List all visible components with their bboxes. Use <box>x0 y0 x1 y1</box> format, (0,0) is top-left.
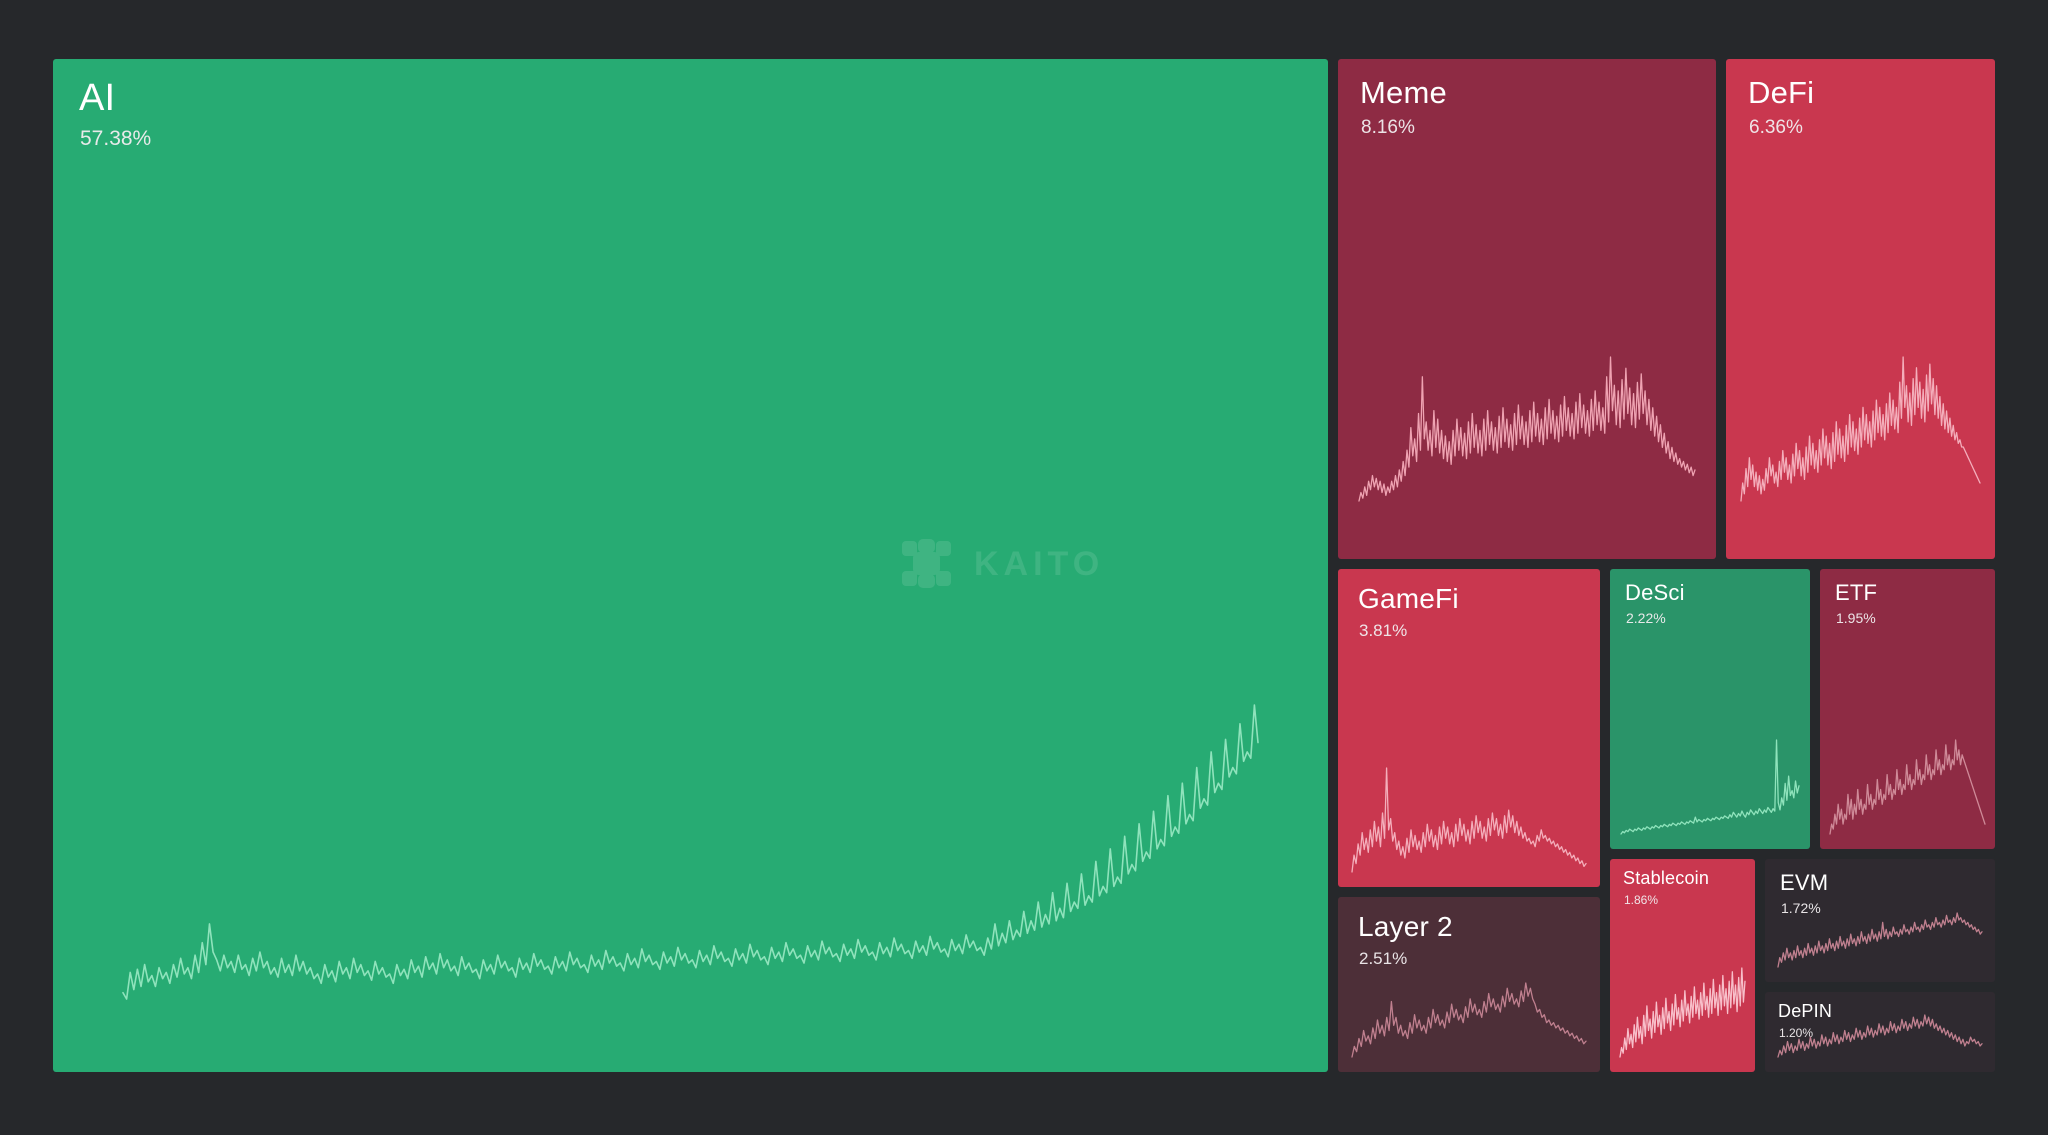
tile-percent-defi: 6.36% <box>1749 117 1803 139</box>
sparkline-ai <box>53 702 1328 1002</box>
sparkline-layer-2 <box>1338 980 1600 1060</box>
treemap-tile-evm[interactable]: EVM1.72% <box>1765 859 1995 982</box>
tile-label-etf: ETF <box>1835 580 1877 606</box>
tile-percent-meme: 8.16% <box>1361 117 1415 139</box>
tile-percent-ai: 57.38% <box>80 127 151 151</box>
tile-label-meme: Meme <box>1360 75 1447 111</box>
tile-label-desci: DeSci <box>1625 580 1685 606</box>
sparkline-desci <box>1610 737 1810 837</box>
treemap-tile-etf[interactable]: ETF1.95% <box>1820 569 1995 849</box>
tile-label-defi: DeFi <box>1748 75 1814 111</box>
sparkline-defi <box>1726 354 1995 504</box>
treemap-tile-depin[interactable]: DePIN1.20% <box>1765 992 1995 1072</box>
tile-percent-layer-2: 2.51% <box>1359 949 1407 969</box>
treemap-tile-layer-2[interactable]: Layer 22.51% <box>1338 897 1600 1072</box>
treemap-chart: AI57.38%Meme8.16%DeFi6.36%GameFi3.81%Lay… <box>53 59 1995 1072</box>
tile-label-layer-2: Layer 2 <box>1358 911 1453 943</box>
sparkline-gamefi <box>1338 765 1600 875</box>
treemap-tile-defi[interactable]: DeFi6.36% <box>1726 59 1995 559</box>
treemap-tile-stablecoin[interactable]: Stablecoin1.86% <box>1610 859 1755 1072</box>
sparkline-evm <box>1765 910 1995 970</box>
treemap-tile-ai[interactable]: AI57.38% <box>53 59 1328 1072</box>
treemap-tile-desci[interactable]: DeSci2.22% <box>1610 569 1810 849</box>
treemap-tile-gamefi[interactable]: GameFi3.81% <box>1338 569 1600 887</box>
tile-percent-etf: 1.95% <box>1836 610 1876 626</box>
sparkline-stablecoin <box>1610 965 1755 1060</box>
sparkline-depin <box>1765 1012 1995 1060</box>
tile-label-gamefi: GameFi <box>1358 583 1459 615</box>
sparkline-meme <box>1338 354 1716 504</box>
sparkline-etf <box>1820 737 1995 837</box>
tile-label-ai: AI <box>79 77 115 120</box>
tile-percent-stablecoin: 1.86% <box>1624 893 1658 907</box>
tile-label-evm: EVM <box>1780 870 1828 896</box>
tile-label-stablecoin: Stablecoin <box>1623 868 1709 889</box>
tile-percent-desci: 2.22% <box>1626 610 1666 626</box>
tile-percent-gamefi: 3.81% <box>1359 621 1407 641</box>
treemap-tile-meme[interactable]: Meme8.16% <box>1338 59 1716 559</box>
